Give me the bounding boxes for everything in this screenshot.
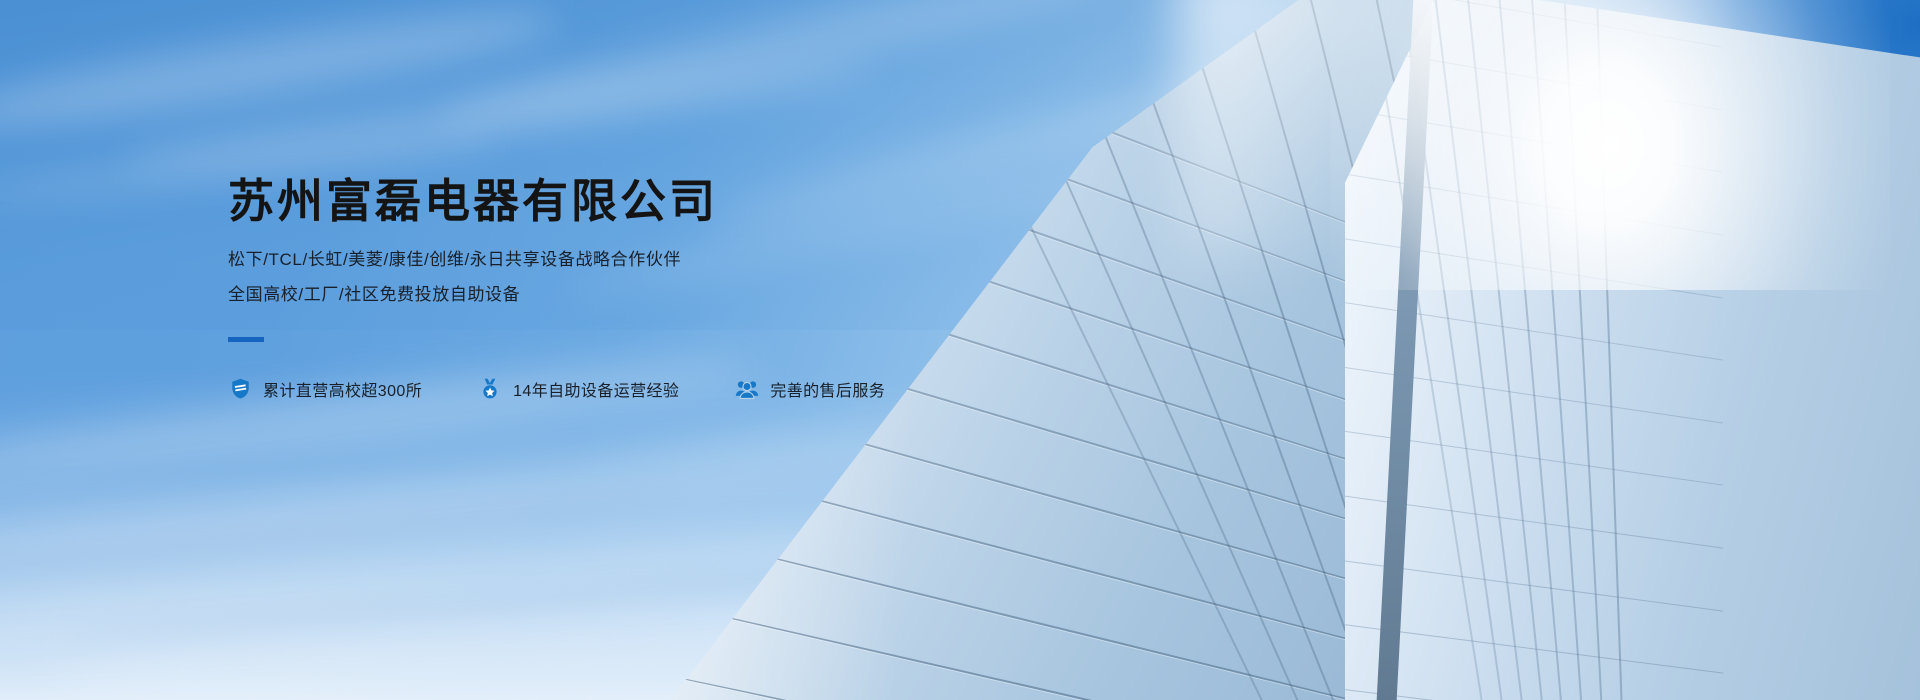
accent-divider <box>228 337 264 342</box>
banner-content: 苏州富磊电器有限公司 松下/TCL/长虹/美菱/康佳/创维/永日共享设备战略合作… <box>228 176 1048 401</box>
feature-item-schools: 累计直营高校超300所 <box>228 377 422 401</box>
medal-icon <box>478 377 502 401</box>
subtitle-partners: 松下/TCL/长虹/美菱/康佳/创维/永日共享设备战略合作伙伴 <box>228 251 1048 268</box>
feature-item-experience: 14年自助设备运营经验 <box>478 377 679 401</box>
page-title: 苏州富磊电器有限公司 <box>228 176 1048 227</box>
facade-line <box>1345 684 1724 700</box>
feature-label: 14年自助设备运营经验 <box>513 377 679 401</box>
subtitle-coverage: 全国高校/工厂/社区免费投放自助设备 <box>228 286 1048 303</box>
facade-line <box>1431 0 1533 700</box>
feature-label: 累计直营高校超300所 <box>263 377 422 401</box>
feature-item-service: 完善的售后服务 <box>735 377 885 401</box>
users-icon <box>735 377 759 401</box>
glass-tower-right <box>1345 0 1920 700</box>
facade-line <box>1345 103 1722 173</box>
facade-line <box>1529 0 1588 700</box>
feature-list: 累计直营高校超300所 14年自助设备运营经验 <box>228 377 1048 401</box>
feature-label: 完善的售后服务 <box>770 377 885 401</box>
shield-icon <box>228 377 252 401</box>
hero-banner: 苏州富磊电器有限公司 松下/TCL/长虹/美菱/康佳/创维/永日共享设备战略合作… <box>0 0 1920 700</box>
